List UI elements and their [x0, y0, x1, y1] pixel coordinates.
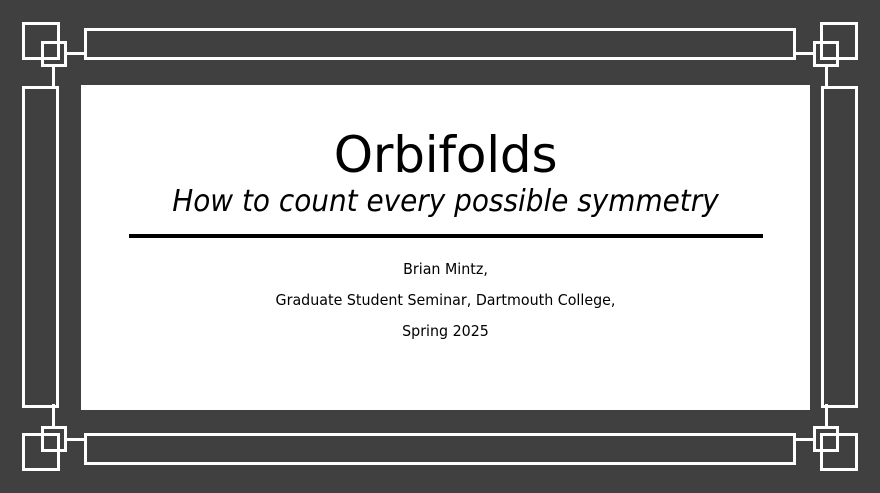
slide-subtitle: How to count every possible symmetry — [107, 184, 785, 221]
frame-inner-square-bottom-right — [813, 426, 839, 452]
frame-join-top-right — [794, 52, 816, 55]
frame-stem-top-left — [52, 64, 55, 89]
byline-venue: Graduate Student Seminar, Dartmouth Coll… — [99, 285, 792, 316]
frame-bar-right — [821, 86, 858, 408]
title-text-block: Orbifolds How to count every possible sy… — [81, 85, 810, 347]
title-divider-rule — [129, 234, 763, 238]
frame-join-top-left — [64, 52, 86, 55]
frame-bar-bottom — [84, 433, 796, 465]
frame-join-bottom-right — [794, 438, 816, 441]
byline-date: Spring 2025 — [99, 316, 792, 347]
frame-stem-bottom-right — [825, 404, 828, 429]
frame-bar-top — [84, 28, 796, 60]
presentation-slide: Orbifolds How to count every possible sy… — [0, 0, 880, 493]
slide-content-panel: Orbifolds How to count every possible sy… — [81, 85, 810, 410]
frame-stem-top-right — [825, 64, 828, 89]
page-title: Orbifolds — [81, 129, 810, 182]
byline-block: Brian Mintz, Graduate Student Seminar, D… — [99, 254, 792, 347]
frame-join-bottom-left — [64, 438, 86, 441]
frame-stem-bottom-left — [52, 404, 55, 429]
frame-bar-left — [22, 86, 59, 408]
byline-author: Brian Mintz, — [99, 254, 792, 285]
